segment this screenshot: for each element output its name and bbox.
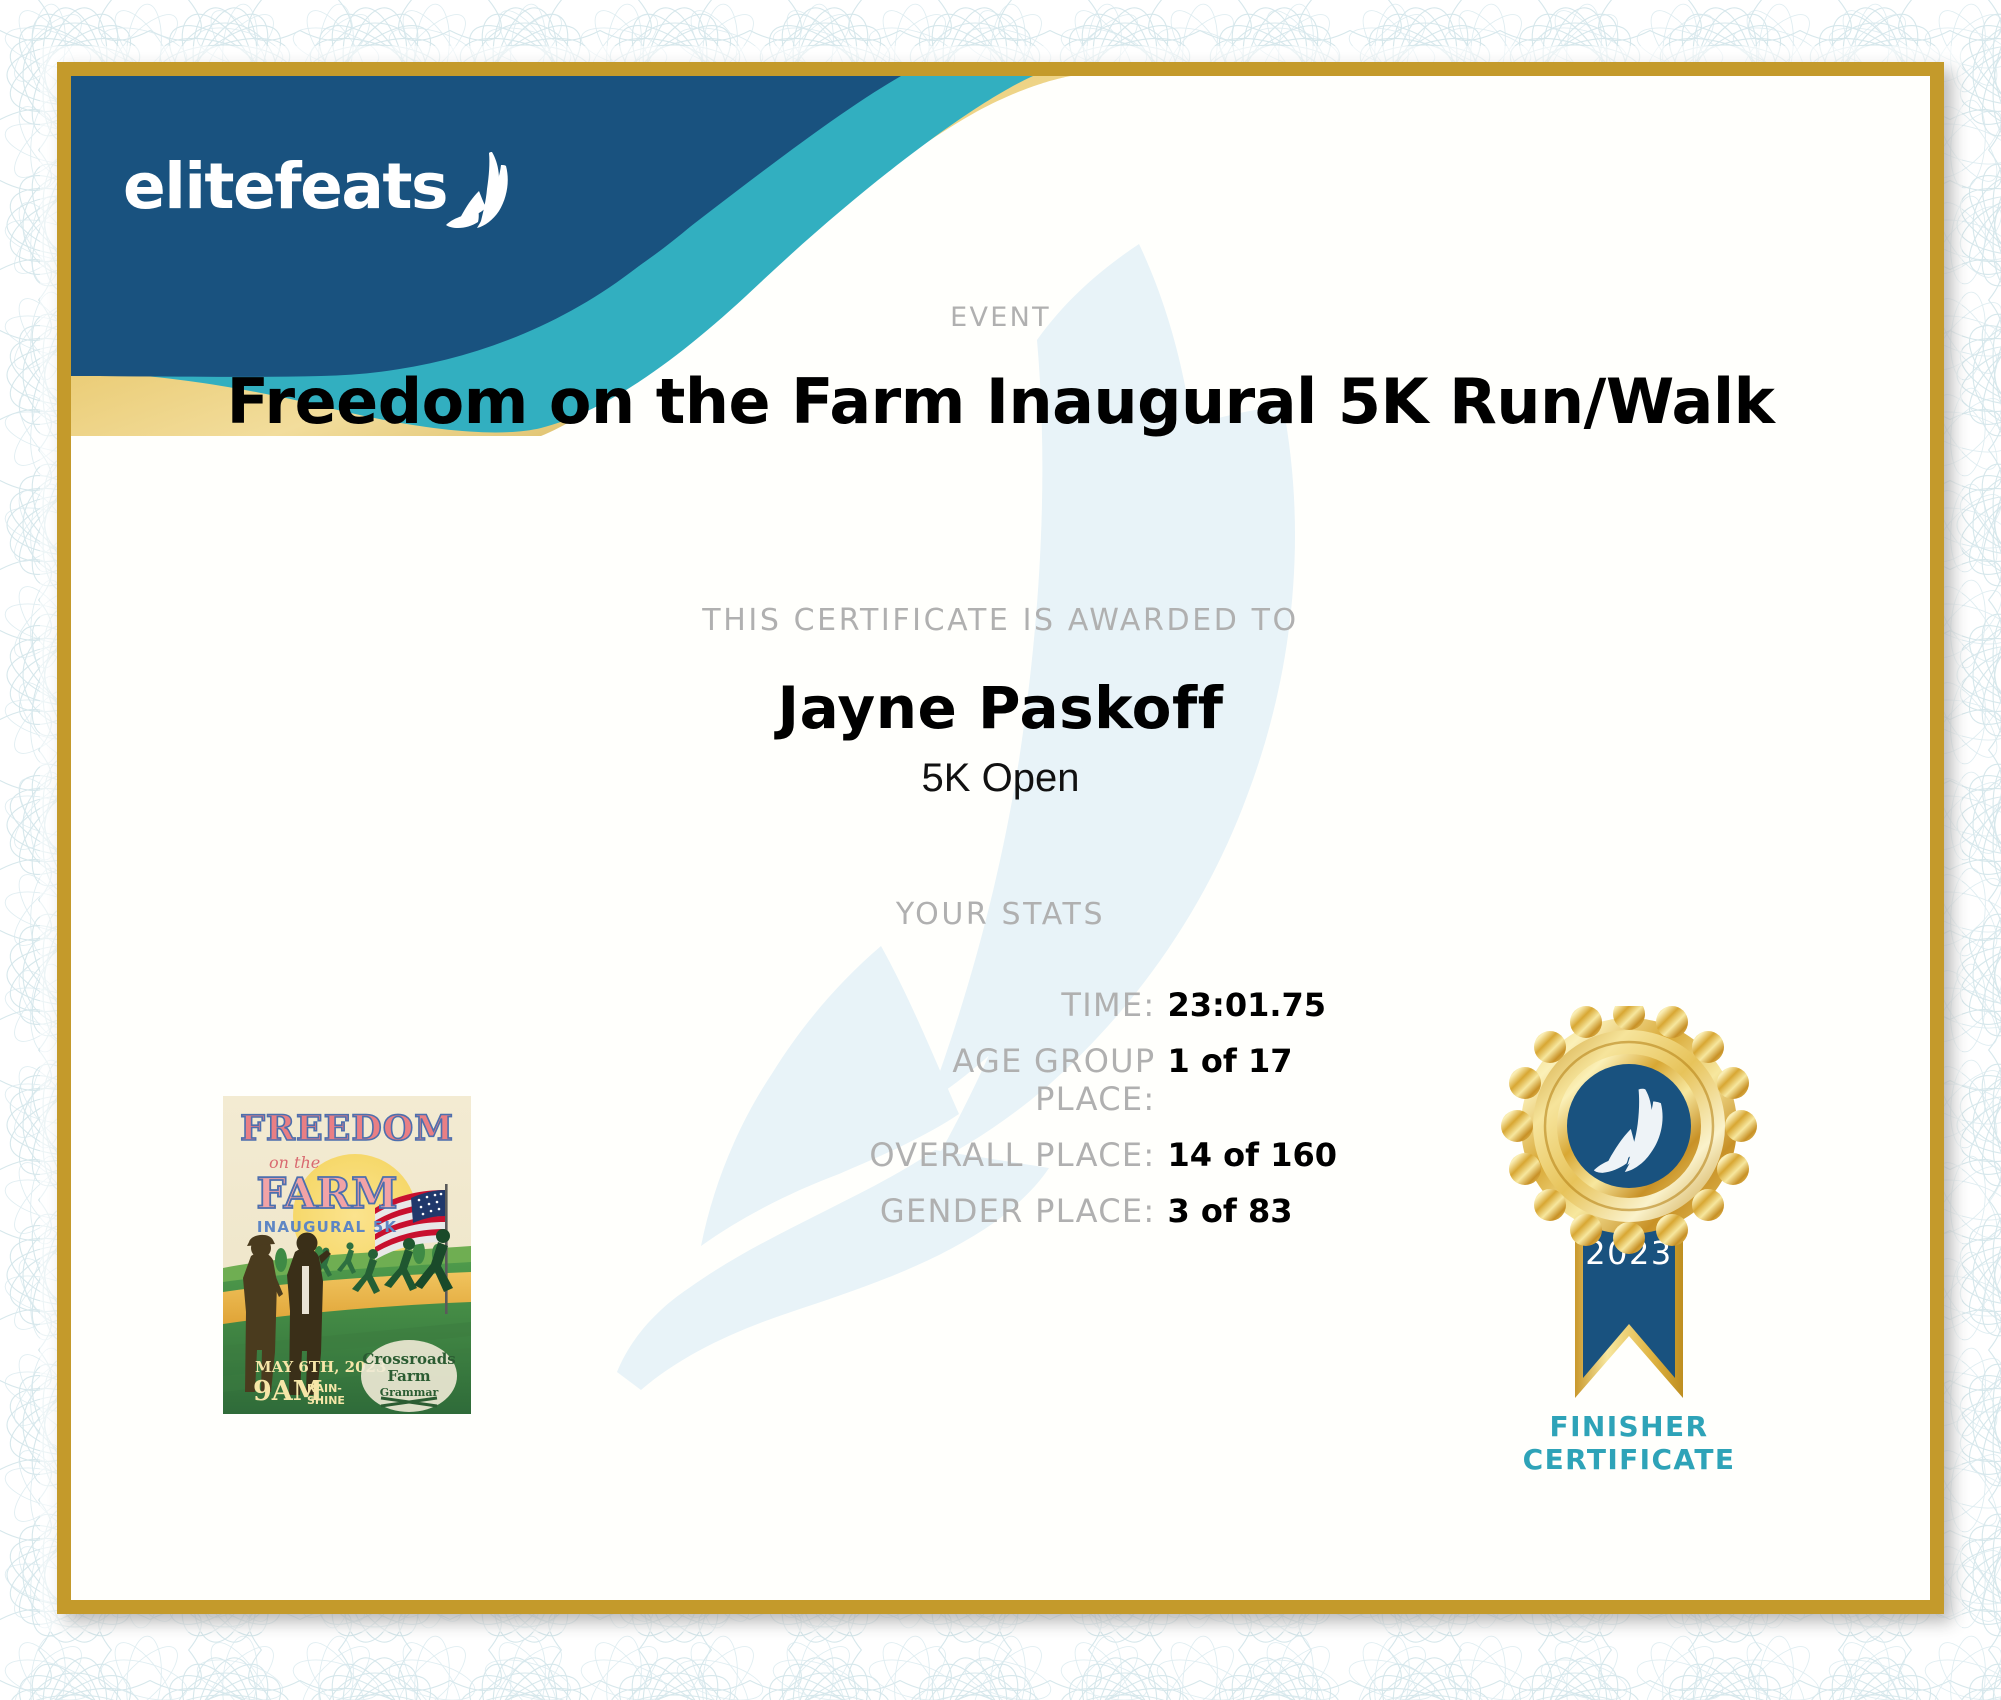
finisher-medal: 2023 (1479, 1006, 1779, 1486)
svg-text:FREEDOM: FREEDOM (240, 1108, 454, 1149)
medal-caption-line2: CERTIFICATE (1523, 1443, 1736, 1476)
stat-key: OVERALL PLACE: (826, 1136, 1156, 1174)
your-stats-label: YOUR STATS (896, 897, 1105, 932)
brand-wordmark: elitefeats (123, 155, 447, 218)
svg-text:Crossroads: Crossroads (362, 1350, 455, 1368)
event-label: EVENT (950, 302, 1051, 333)
stat-value: 14 of 160 (1168, 1136, 1338, 1174)
event-name: Freedom on the Farm Inaugural 5K Run/Wal… (227, 365, 1775, 438)
stat-value: 23:01.75 (1168, 986, 1327, 1024)
stat-key: TIME: (826, 986, 1156, 1024)
recipient-name: Jayne Paskoff (777, 674, 1223, 742)
svg-text:Grammar: Grammar (380, 1386, 439, 1399)
winged-foot-icon (445, 150, 515, 228)
recipient-division: 5K Open (922, 756, 1080, 801)
svg-text:FARM: FARM (256, 1169, 397, 1218)
svg-text:Farm: Farm (387, 1367, 430, 1385)
stat-value: 1 of 17 (1168, 1042, 1293, 1080)
stat-row-gender-place: GENDER PLACE: 3 of 83 (651, 1192, 1351, 1230)
stat-key: GENDER PLACE: (826, 1192, 1156, 1230)
awarded-to-label: THIS CERTIFICATE IS AWARDED TO (702, 603, 1298, 638)
stat-key: AGE GROUP PLACE: (826, 1042, 1156, 1118)
certificate-body: elitefeats EVENT Freedom on the Farm Ina… (71, 76, 1930, 1600)
stat-value: 3 of 83 (1168, 1192, 1293, 1230)
stat-row-time: TIME: 23:01.75 (651, 986, 1351, 1024)
certificate-frame: elitefeats EVENT Freedom on the Farm Ina… (57, 62, 1944, 1614)
stat-row-overall-place: OVERALL PLACE: 14 of 160 (651, 1136, 1351, 1174)
svg-text:INAUGURAL 5K: INAUGURAL 5K (257, 1218, 398, 1236)
svg-text:SHINE: SHINE (307, 1394, 345, 1407)
brand-logo: elitefeats (123, 144, 515, 228)
medal-graphic: 2023 (1479, 1006, 1779, 1416)
medal-caption: FINISHER CERTIFICATE (1523, 1410, 1736, 1476)
medal-caption-line1: FINISHER (1523, 1410, 1736, 1443)
stat-row-age-group-place: AGE GROUP PLACE: 1 of 17 (651, 1042, 1351, 1118)
event-poster-image: FREEDOM on the FARM INAUGURAL 5K MAY 6TH… (223, 1096, 471, 1414)
